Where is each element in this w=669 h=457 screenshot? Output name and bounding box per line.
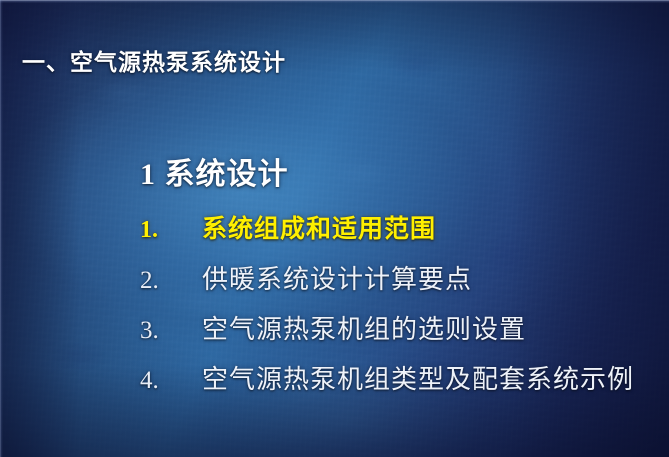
- list-item[interactable]: 2. 供暖系统设计计算要点: [140, 259, 660, 309]
- list-item-number: 4.: [140, 367, 202, 395]
- list-item[interactable]: 1. 系统组成和适用范围: [140, 209, 660, 259]
- outline-list: 1. 系统组成和适用范围 2. 供暖系统设计计算要点 3. 空气源热泵机组的选则…: [140, 209, 660, 409]
- section-title: 一、空气源热泵系统设计: [22, 49, 286, 77]
- presentation-slide: 一、空气源热泵系统设计 1 系统设计 1. 系统组成和适用范围 2. 供暖系统设…: [0, 0, 669, 457]
- list-item-number: 2.: [140, 267, 202, 295]
- list-item-label: 空气源热泵机组类型及配套系统示例: [202, 359, 634, 396]
- slide-content: 一、空气源热泵系统设计 1 系统设计 1. 系统组成和适用范围 2. 供暖系统设…: [0, 0, 669, 457]
- list-item-label: 空气源热泵机组的选则设置: [202, 309, 526, 346]
- list-item-number: 1.: [140, 217, 202, 244]
- list-item-label: 供暖系统设计计算要点: [202, 259, 472, 296]
- list-item[interactable]: 4. 空气源热泵机组类型及配套系统示例: [140, 359, 660, 409]
- slide-heading: 1 系统设计: [140, 157, 289, 193]
- list-item-number: 3.: [140, 317, 202, 345]
- list-item[interactable]: 3. 空气源热泵机组的选则设置: [140, 309, 660, 359]
- list-item-label: 系统组成和适用范围: [202, 209, 436, 245]
